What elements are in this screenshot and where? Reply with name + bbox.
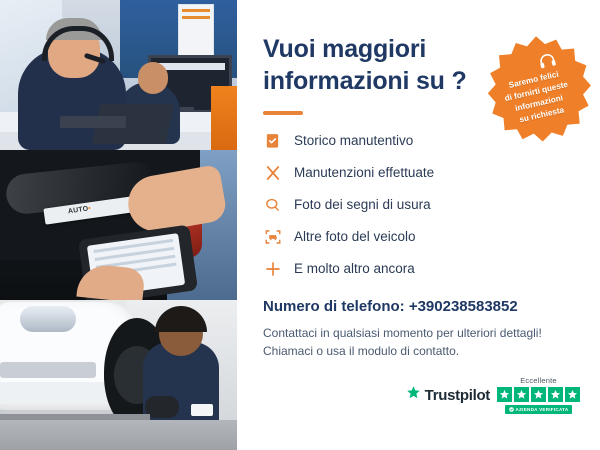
car-scan-icon	[263, 227, 282, 246]
verified-badge: AZIENDA VERIFICATA	[505, 405, 573, 414]
orange-object-shape	[211, 86, 237, 150]
mechanic-wheel-inspection-photo	[0, 300, 237, 450]
poster-shape	[178, 4, 214, 62]
trustpilot-rating: Eccellente AZIENDA VERIFICATA	[497, 376, 580, 414]
page-title: Vuoi maggiori informazioni su ?	[263, 34, 478, 97]
second-agent-head	[138, 62, 168, 94]
magnifier-icon	[263, 195, 282, 214]
uniform-badge-shape	[191, 404, 213, 416]
star-icon	[514, 387, 529, 402]
content-panel: Vuoi maggiori informazioni su ? Storico …	[237, 0, 600, 450]
promo-banner: AUTO• Vuoi maggiori informazioni su ?	[0, 0, 600, 450]
list-item-label: Foto dei segni di usura	[294, 197, 431, 212]
trustpilot-star-icon	[406, 385, 421, 405]
star-icon	[565, 387, 580, 402]
feature-list: Storico manutentivo Manutenzioni effettu…	[263, 131, 574, 278]
title-underline	[263, 111, 303, 115]
list-item: Foto dei segni di usura	[263, 195, 574, 214]
list-item: Manutenzioni effettuate	[263, 163, 574, 182]
clipboard-check-icon	[263, 131, 282, 150]
trustpilot-name: Trustpilot	[425, 387, 490, 404]
list-item-label: E molto altro ancora	[294, 261, 415, 276]
garage-floor-shape	[0, 420, 237, 450]
star-icon	[497, 387, 512, 402]
verified-label: AZIENDA VERIFICATA	[516, 407, 569, 412]
star-rating	[497, 387, 580, 402]
call-center-agents-photo	[0, 0, 237, 150]
phone-number[interactable]: Numero di telefono: +390238583852	[263, 298, 574, 315]
list-item: E molto altro ancora	[263, 259, 574, 278]
callout-badge: Saremo felici di fornirti queste informa…	[480, 34, 592, 146]
badge-text: Saremo felici di fornirti queste informa…	[469, 23, 600, 157]
trustpilot-brand: Trustpilot	[406, 385, 490, 405]
check-circle-icon	[509, 407, 514, 413]
mechanic-glove-shape	[145, 396, 179, 418]
grille-shape	[0, 362, 96, 378]
list-item-label: Manutenzioni effettuate	[294, 165, 434, 180]
list-item-label: Storico manutentivo	[294, 133, 413, 148]
list-item-label: Altre foto del veicolo	[294, 229, 416, 244]
paragraph-line-2: Chiamaci o usa il modulo di contatto.	[263, 342, 574, 360]
bumper-shape	[0, 382, 110, 404]
plus-icon	[263, 259, 282, 278]
star-icon	[531, 387, 546, 402]
headlight-shape	[20, 306, 76, 332]
contact-paragraph: Contattaci in qualsiasi momento per ulte…	[263, 324, 574, 360]
license-plate-sticker-photo: AUTO•	[0, 150, 237, 300]
crossed-tools-icon	[263, 163, 282, 182]
photo-column: AUTO•	[0, 0, 237, 450]
paragraph-line-1: Contattaci in qualsiasi momento per ulte…	[263, 324, 574, 342]
star-icon	[548, 387, 563, 402]
keyboard-shape	[60, 116, 126, 128]
list-item: Altre foto del veicolo	[263, 227, 574, 246]
trustpilot-widget[interactable]: Trustpilot Eccellente AZIENDA VERIFICATA	[406, 376, 580, 414]
rating-label: Eccellente	[520, 376, 557, 385]
